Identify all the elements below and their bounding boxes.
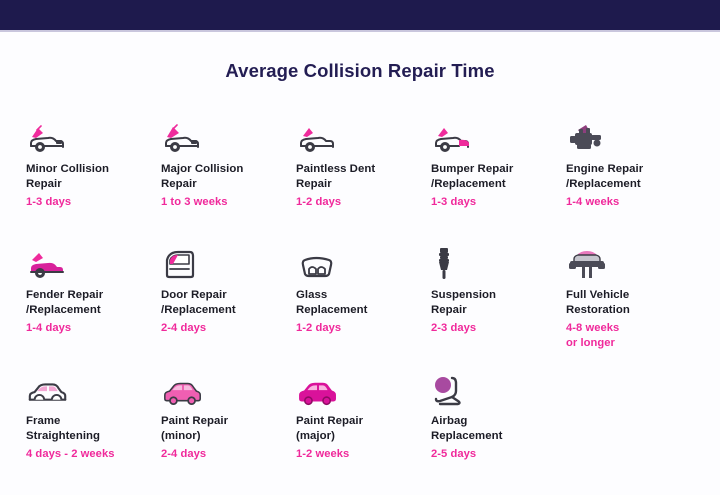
grid-row: Frame Straightening 4 days - 2 weeks Pai… bbox=[26, 370, 694, 494]
windshield-glass-icon bbox=[296, 244, 340, 282]
repair-item-duration: 1 to 3 weeks bbox=[161, 195, 228, 210]
repair-item-label: Fender Repair /Replacement bbox=[26, 288, 103, 317]
repair-item-label: Frame Straightening bbox=[26, 414, 100, 443]
grid-row: Fender Repair /Replacement 1-4 days Door… bbox=[26, 244, 694, 368]
repair-item-label: Paintless Dent Repair bbox=[296, 162, 375, 191]
repair-item-duration: 1-2 weeks bbox=[296, 447, 349, 462]
engine-icon bbox=[566, 118, 610, 156]
car-fender-icon bbox=[26, 244, 70, 282]
repair-item-duration: 2-4 days bbox=[161, 447, 206, 462]
car-dent-icon bbox=[296, 118, 340, 156]
car-front-collision-minor-icon bbox=[26, 118, 70, 156]
repair-item-bumper: Bumper Repair /Replacement 1-3 days bbox=[431, 118, 566, 210]
repair-item-duration: 2-4 days bbox=[161, 321, 206, 336]
repair-item-minor-collision: Minor Collision Repair 1-3 days bbox=[26, 118, 161, 210]
car-bumper-icon bbox=[431, 118, 475, 156]
repair-item-paintless-dent: Paintless Dent Repair 1-2 days bbox=[296, 118, 431, 210]
page-title: Average Collision Repair Time bbox=[0, 60, 720, 82]
repair-item-label: Engine Repair /Replacement bbox=[566, 162, 643, 191]
car-front-collision-major-icon bbox=[161, 118, 205, 156]
repair-item-duration: 1-4 weeks bbox=[566, 195, 619, 210]
repair-item-major-collision: Major Collision Repair 1 to 3 weeks bbox=[161, 118, 296, 210]
car-frame-outline-icon bbox=[26, 370, 70, 408]
repair-item-duration: 4-8 weeks or longer bbox=[566, 321, 619, 350]
repair-item-label: Suspension Repair bbox=[431, 288, 496, 317]
repair-item-suspension: Suspension Repair 2-3 days bbox=[431, 244, 566, 336]
repair-item-label: Airbag Replacement bbox=[431, 414, 502, 443]
repair-time-grid: Minor Collision Repair 1-3 days Major bbox=[26, 118, 694, 494]
car-on-lift-icon bbox=[566, 244, 610, 282]
grid-row: Minor Collision Repair 1-3 days Major bbox=[26, 118, 694, 242]
repair-item-full-restoration: Full Vehicle Restoration 4-8 weeks or lo… bbox=[566, 244, 701, 350]
car-paint-minor-icon bbox=[161, 370, 205, 408]
repair-item-engine: Engine Repair /Replacement 1-4 weeks bbox=[566, 118, 701, 210]
repair-item-airbag: Airbag Replacement 2-5 days bbox=[431, 370, 566, 462]
repair-item-paint-minor: Paint Repair (minor) 2-4 days bbox=[161, 370, 296, 462]
repair-item-label: Full Vehicle Restoration bbox=[566, 288, 630, 317]
car-paint-major-icon bbox=[296, 370, 340, 408]
suspension-shock-icon bbox=[431, 244, 475, 282]
repair-item-label: Bumper Repair /Replacement bbox=[431, 162, 513, 191]
car-door-icon bbox=[161, 244, 205, 282]
repair-item-label: Paint Repair (major) bbox=[296, 414, 363, 443]
repair-item-duration: 1-3 days bbox=[431, 195, 476, 210]
repair-item-glass: Glass Replacement 1-2 days bbox=[296, 244, 431, 336]
repair-item-duration: 1-3 days bbox=[26, 195, 71, 210]
repair-item-duration: 4 days - 2 weeks bbox=[26, 447, 115, 462]
repair-item-duration: 1-2 days bbox=[296, 321, 341, 336]
repair-item-label: Minor Collision Repair bbox=[26, 162, 109, 191]
repair-item-label: Major Collision Repair bbox=[161, 162, 243, 191]
repair-item-duration: 1-2 days bbox=[296, 195, 341, 210]
repair-item-duration: 1-4 days bbox=[26, 321, 71, 336]
repair-item-duration: 2-5 days bbox=[431, 447, 476, 462]
repair-item-fender: Fender Repair /Replacement 1-4 days bbox=[26, 244, 161, 336]
airbag-seat-icon bbox=[431, 370, 475, 408]
repair-item-label: Glass Replacement bbox=[296, 288, 367, 317]
repair-item-label: Paint Repair (minor) bbox=[161, 414, 228, 443]
repair-item-frame-straightening: Frame Straightening 4 days - 2 weeks bbox=[26, 370, 161, 462]
repair-item-paint-major: Paint Repair (major) 1-2 weeks bbox=[296, 370, 431, 462]
repair-item-duration: 2-3 days bbox=[431, 321, 476, 336]
repair-item-label: Door Repair /Replacement bbox=[161, 288, 236, 317]
infographic-root: Average Collision Repair Time Minor Co bbox=[0, 0, 720, 495]
top-banner-bar bbox=[0, 0, 720, 30]
top-banner-underline bbox=[0, 30, 720, 32]
repair-item-door: Door Repair /Replacement 2-4 days bbox=[161, 244, 296, 336]
